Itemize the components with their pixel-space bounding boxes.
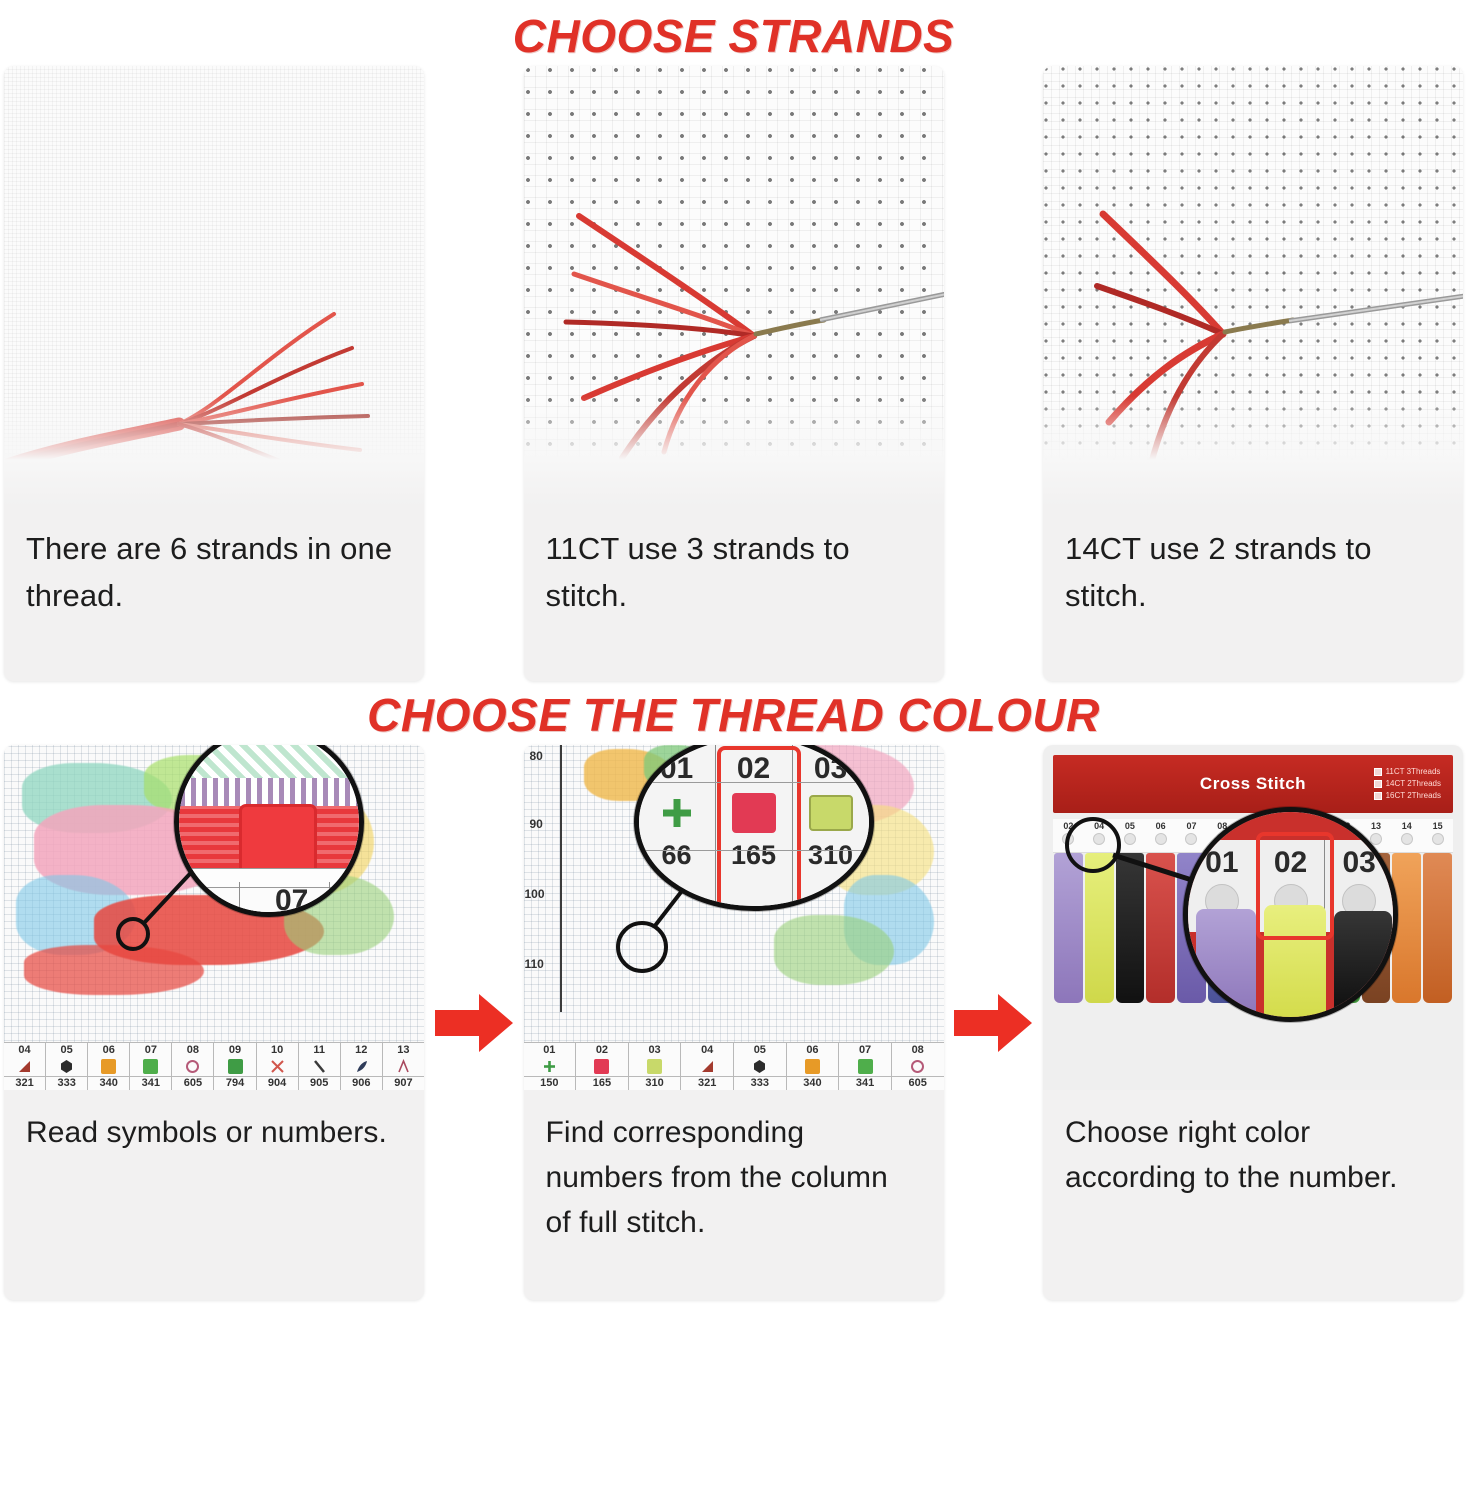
legend-number: 12 (355, 1044, 367, 1056)
magnifier-numbers: 01 66 02 165 (634, 745, 874, 911)
thread-organizer-card: Cross Stitch 11CT 3Threads 14CT 2Threads (1043, 745, 1463, 1090)
magnified-slot-number: 03 (1342, 846, 1375, 880)
caption-read-symbols: Read symbols or numbers. (4, 1090, 424, 1300)
legend-col: 01 150 (524, 1043, 577, 1090)
photo-bottom-fade (1043, 396, 1463, 506)
legend-col: 07 341 (130, 1043, 172, 1090)
legend-number: 06 (806, 1044, 818, 1056)
legend-col: 09 794 (214, 1043, 256, 1090)
legend-code: 341 (839, 1076, 891, 1090)
legend-symbol-triangle (700, 1056, 715, 1076)
legend-symbol-square (858, 1056, 873, 1076)
magnified-cell-code: 165 (731, 840, 776, 871)
legend-code: 340 (88, 1076, 129, 1090)
legend-symbol-hexagon (752, 1056, 767, 1076)
legend-col: 06 340 (787, 1043, 840, 1090)
legend-symbol-cross (542, 1056, 557, 1076)
legend-code: 310 (629, 1076, 681, 1090)
legend-number: 07 (859, 1044, 871, 1056)
caption-six-strands: There are 6 strands in one thread. (4, 506, 424, 681)
legend-number: 10 (271, 1044, 283, 1056)
card-find-numbers: 80 90 100 110 (524, 745, 944, 1300)
legend-symbol-leaf (354, 1056, 369, 1076)
legend-code: 341 (130, 1076, 171, 1090)
caption-choose-color: Choose right color according to the numb… (1043, 1090, 1463, 1300)
arrow-right-icon (435, 992, 513, 1054)
legend-code: 165 (576, 1076, 628, 1090)
legend-col: 10 904 (257, 1043, 299, 1090)
photo-11ct (524, 66, 944, 506)
legend-symbol-square (647, 1056, 662, 1076)
legend-number: 02 (596, 1044, 608, 1056)
legend-code: 905 (299, 1076, 340, 1090)
magnifier-symbols: 07 (174, 745, 364, 917)
legend-number: 06 (103, 1044, 115, 1056)
legend-table-middle: 01 150 02 165 03 (524, 1042, 944, 1090)
legend-col: 04 321 (4, 1043, 46, 1090)
magnified-cell-number: 02 (737, 752, 770, 786)
legend-col: 02 165 (576, 1043, 629, 1090)
magnified-cell-code: 310 (808, 840, 853, 871)
legend-code: 333 (734, 1076, 786, 1090)
legend-code: 906 (341, 1076, 382, 1090)
pattern-chart-middle: 80 90 100 110 (524, 745, 944, 1090)
legend-symbol-square (101, 1056, 116, 1076)
magnified-legend-cell: 02 165 (716, 745, 793, 906)
legend-number: 07 (145, 1044, 157, 1056)
legend-number: 01 (543, 1044, 555, 1056)
magnified-cell-symbol-cross (657, 786, 697, 840)
legend-symbol-triangle (17, 1056, 32, 1076)
card-choose-color: Cross Stitch 11CT 3Threads 14CT 2Threads (1043, 745, 1463, 1300)
legend-number: 04 (701, 1044, 713, 1056)
legend-symbol-circle (185, 1056, 200, 1076)
legend-col: 06 340 (88, 1043, 130, 1090)
arrow-right-icon (954, 992, 1032, 1054)
card-read-symbols: 07 04 321 05 (4, 745, 424, 1300)
legend-number: 04 (18, 1044, 30, 1056)
magnified-floss-bundle (1264, 905, 1326, 1017)
magnified-cell-symbol-square (809, 786, 853, 840)
legend-col: 08 605 (892, 1043, 944, 1090)
photo-pattern-legend: 80 90 100 110 (524, 745, 944, 1090)
magnified-floss-bundle (1334, 911, 1392, 1017)
legend-number: 09 (229, 1044, 241, 1056)
legend-symbol-slash (312, 1056, 327, 1076)
card-11ct: 11CT use 3 strands to stitch. (524, 66, 944, 681)
photo-bottom-fade (524, 396, 944, 506)
pattern-chart-left: 07 04 321 05 (4, 745, 424, 1090)
strands-card-row: There are 6 strands in one thread. (0, 66, 1467, 681)
arrow-step-2-to-3 (949, 745, 1037, 1300)
legend-symbol-square (594, 1056, 609, 1076)
legend-code: 321 (681, 1076, 733, 1090)
legend-number: 05 (754, 1044, 766, 1056)
magnified-cell-code: 66 (661, 840, 691, 871)
legend-code: 333 (46, 1076, 87, 1090)
legend-col: 05 333 (734, 1043, 787, 1090)
legend-symbol-square (143, 1056, 158, 1076)
legend-code: 321 (4, 1076, 45, 1090)
legend-symbol-circle (910, 1056, 925, 1076)
legend-col: 07 341 (839, 1043, 892, 1090)
legend-number: 13 (397, 1044, 409, 1056)
magnified-legend-cell: 01 66 (639, 745, 716, 906)
photo-six-strands (4, 66, 424, 506)
legend-code: 904 (257, 1076, 298, 1090)
caption-11ct: 11CT use 3 strands to stitch. (524, 506, 944, 681)
photo-bottom-fade (4, 396, 424, 506)
card-14ct: 14CT use 2 strands to stitch. (1043, 66, 1463, 681)
legend-col: 13 907 (383, 1043, 424, 1090)
magnified-legend-strip: 01 66 02 165 (639, 745, 869, 906)
caption-14ct: 14CT use 2 strands to stitch. (1043, 506, 1463, 681)
legend-code: 605 (892, 1076, 944, 1090)
magnified-slot-number: 01 (1205, 846, 1238, 880)
legend-code: 150 (524, 1076, 576, 1090)
legend-number: 08 (187, 1044, 199, 1056)
legend-col: 03 310 (629, 1043, 682, 1090)
legend-code: 605 (172, 1076, 213, 1090)
legend-col: 04 321 (681, 1043, 734, 1090)
legend-symbol-arch (396, 1056, 411, 1076)
legend-code: 794 (214, 1076, 255, 1090)
legend-symbol-hexagon (59, 1056, 74, 1076)
card-six-strands: There are 6 strands in one thread. (4, 66, 424, 681)
legend-code: 340 (787, 1076, 839, 1090)
section-heading-strands: CHOOSE STRANDS (0, 0, 1467, 66)
magnified-legend-cell: 03 310 (793, 745, 869, 906)
legend-col: 11 905 (299, 1043, 341, 1090)
magnified-cell-number: 03 (814, 752, 847, 786)
legend-symbol-square (805, 1056, 820, 1076)
legend-table-left: 04 321 05 333 06 (4, 1042, 424, 1090)
caption-find-numbers: Find corresponding numbers from the colu… (524, 1090, 944, 1300)
arrow-step-1-to-2 (430, 745, 518, 1300)
legend-symbol-cross (270, 1056, 285, 1076)
legend-col: 12 906 (341, 1043, 383, 1090)
photo-thread-organizer: Cross Stitch 11CT 3Threads 14CT 2Threads (1043, 745, 1463, 1090)
legend-col: 08 605 (172, 1043, 214, 1090)
magnified-slot-number: 02 (1274, 846, 1307, 880)
photo-14ct (1043, 66, 1463, 506)
magnified-cell-symbol-square (732, 786, 776, 840)
thread-colour-card-row: 07 04 321 05 (0, 745, 1467, 1300)
legend-number: 11 (313, 1044, 325, 1056)
magnified-floss-bundle (1196, 909, 1256, 1017)
legend-number: 03 (648, 1044, 660, 1056)
photo-pattern-symbols: 07 04 321 05 (4, 745, 424, 1090)
magnifier-floss: 01 02 03 (1183, 807, 1398, 1022)
legend-code: 907 (383, 1076, 424, 1090)
legend-col: 05 333 (46, 1043, 88, 1090)
legend-symbol-square (228, 1056, 243, 1076)
legend-number: 08 (912, 1044, 924, 1056)
legend-number: 05 (61, 1044, 73, 1056)
magnified-cell-number: 01 (660, 752, 693, 786)
section-heading-thread-colour: CHOOSE THE THREAD COLOUR (0, 681, 1467, 745)
